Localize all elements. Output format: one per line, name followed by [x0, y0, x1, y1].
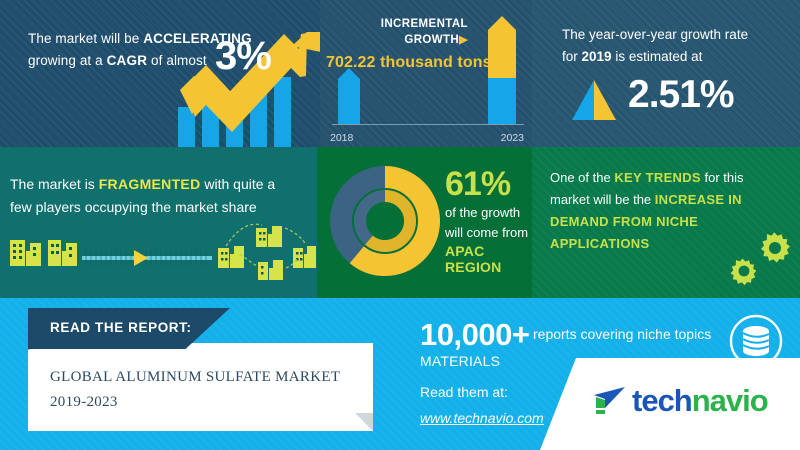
- reports-caption: reports covering niche topics: [533, 326, 711, 342]
- donut-chart-icon: [329, 165, 441, 277]
- yoy-year: 2019: [582, 49, 612, 64]
- axis-tick-2023: 2023: [501, 132, 524, 144]
- infographic-root: The market will be ACCELERATING growing …: [0, 0, 800, 450]
- technavio-logo: technavio: [540, 358, 800, 450]
- trends-description: One of the KEY TRENDS for this market wi…: [550, 167, 785, 255]
- fragmented-description: The market is FRAGMENTED with quite a fe…: [10, 173, 310, 219]
- category-label: MATERIALS: [420, 353, 500, 369]
- trends-text-3: market will be the: [550, 192, 655, 207]
- cagr-text-2: growing at a: [28, 53, 107, 68]
- panel-yoy-growth: The year-over-year growth rate for 2019 …: [532, 0, 800, 147]
- incremental-growth-label: INCREMENTAL GROWTH▶: [328, 16, 468, 48]
- fragmented-text-3: few players occupying the market share: [10, 199, 257, 215]
- cagr-text-1: The market will be: [28, 31, 143, 46]
- yoy-description: The year-over-year growth rate for 2019 …: [562, 24, 792, 68]
- incremental-growth-value: 702.22 thousand tons: [326, 52, 501, 73]
- top-stats-row: The market will be ACCELERATING growing …: [0, 0, 800, 147]
- panel-key-trends: One of the KEY TRENDS for this market wi…: [532, 147, 800, 298]
- apac-region-label: APAC REGION: [445, 243, 532, 275]
- apac-subtext: of the growth will come from: [445, 203, 532, 243]
- yoy-text-1: The year-over-year growth rate: [562, 27, 748, 42]
- reports-count: 10,000+: [420, 318, 529, 352]
- report-card[interactable]: GLOBAL ALUMINUM SULFATE MARKET 2019-2023: [28, 343, 373, 431]
- footer-row: READ THE REPORT: GLOBAL ALUMINUM SULFATE…: [0, 298, 800, 450]
- apac-sub-line1: of the growth: [445, 205, 520, 220]
- yoy-text-3: is estimated at: [612, 49, 703, 64]
- apac-sub-line2: will come from: [445, 225, 528, 240]
- read-the-report-label: READ THE REPORT:: [50, 320, 192, 335]
- incremental-label-line2: GROWTH: [404, 34, 459, 46]
- yoy-value: 2.51%: [628, 70, 734, 120]
- database-stack-icon: [728, 313, 784, 369]
- trends-text-1: One of the: [550, 170, 614, 185]
- technavio-url-link[interactable]: www.technavio.com: [420, 410, 544, 426]
- fragmented-text-2: with quite a: [200, 176, 275, 192]
- panel-apac: 61% of the growth will come from APAC RE…: [317, 147, 532, 298]
- play-triangle-icon: ▶: [459, 34, 468, 46]
- axis-line: [332, 124, 524, 125]
- cagr-value: 3%: [215, 36, 271, 76]
- axis-tick-2018: 2018: [330, 132, 353, 144]
- cagr-label: CAGR: [107, 53, 148, 68]
- city-skyline-icon: [0, 218, 317, 284]
- report-title-line1: GLOBAL ALUMINUM SULFATE MARKET: [50, 369, 340, 385]
- read-the-report-tab: READ THE REPORT:: [28, 308, 230, 349]
- fragmented-highlight: FRAGMENTED: [99, 176, 201, 192]
- panel-incremental-growth: INCREMENTAL GROWTH▶ 702.22 thousand tons…: [320, 0, 532, 147]
- trends-text-2: for this: [701, 170, 744, 185]
- panel-cagr: The market will be ACCELERATING growing …: [0, 0, 320, 147]
- up-triangle-icon: [572, 80, 616, 120]
- fragmented-text-1: The market is: [10, 176, 99, 192]
- incremental-label-line1: INCREMENTAL: [381, 18, 468, 30]
- report-title-line2: 2019-2023: [50, 394, 118, 410]
- cagr-text-3: of almost: [147, 53, 207, 68]
- trends-key-trends: KEY TRENDS: [614, 170, 701, 185]
- page-fold-corner: [355, 413, 373, 431]
- report-title: GLOBAL ALUMINUM SULFATE MARKET 2019-2023: [50, 365, 350, 415]
- yoy-text-2: for: [562, 49, 582, 64]
- middle-stats-row: The market is FRAGMENTED with quite a fe…: [0, 147, 800, 298]
- panel-fragmented: The market is FRAGMENTED with quite a fe…: [0, 147, 317, 298]
- apac-percent: 61%: [445, 165, 510, 203]
- read-them-at-label: Read them at:: [420, 384, 508, 400]
- column-2018-icon: [338, 68, 360, 124]
- technavio-wordmark: technavio: [632, 385, 768, 417]
- technavio-paper-plane-icon: [592, 384, 626, 418]
- logo-text-tech: tech: [632, 383, 692, 418]
- logo-text-navio: navio: [692, 383, 768, 418]
